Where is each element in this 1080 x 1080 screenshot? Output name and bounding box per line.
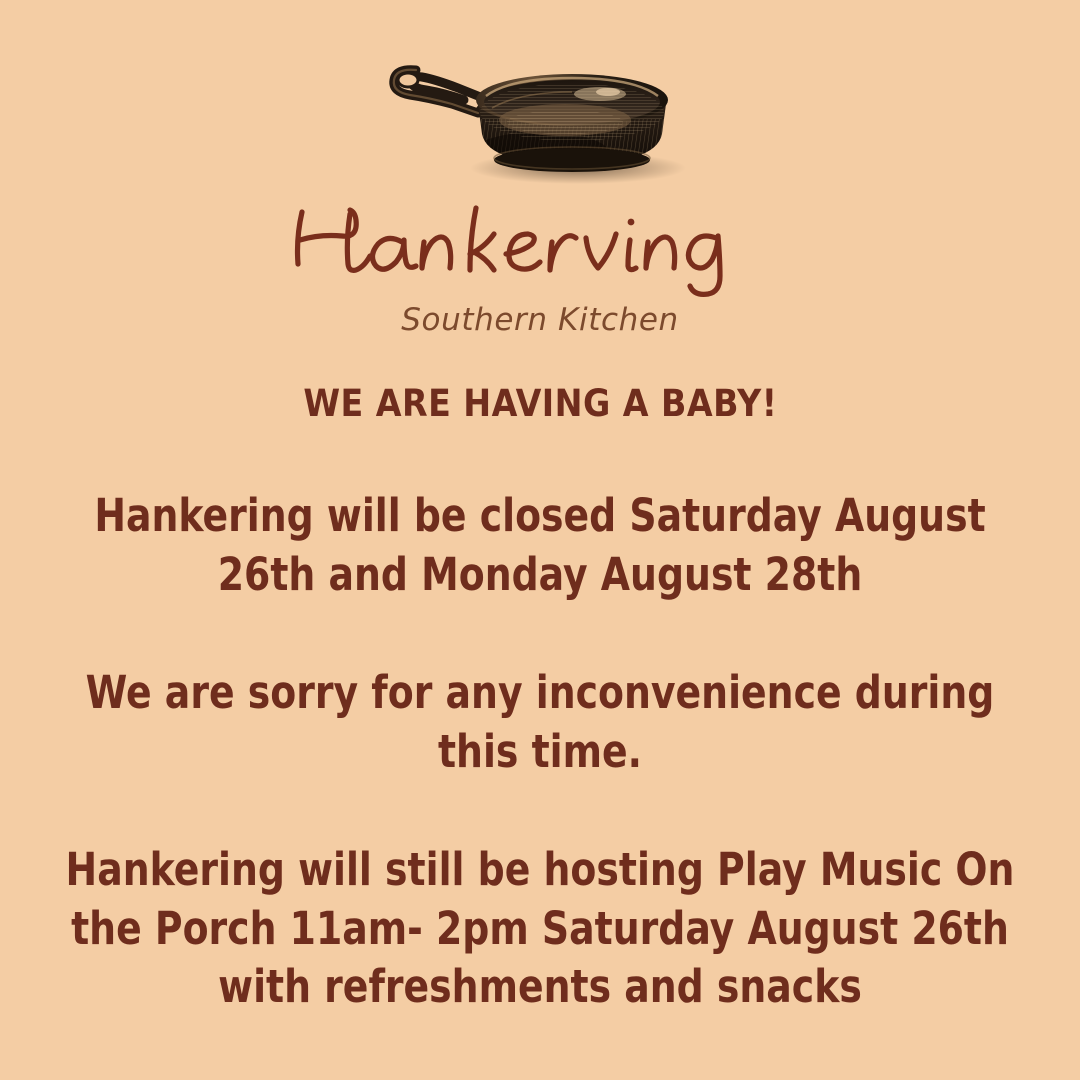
brand-tagline: Southern Kitchen <box>401 302 679 338</box>
cast-iron-skillet-icon <box>360 34 720 194</box>
announcement-poster: Southern Kitchen WE ARE HAVING A BABY! H… <box>0 0 1080 1080</box>
page-title: WE ARE HAVING A BABY! <box>303 382 777 425</box>
closure-notice: Hankering will be closed Saturday August… <box>44 487 1035 604</box>
announcement-body: WE ARE HAVING A BABY! Hankering will be … <box>40 338 1040 1017</box>
wordmark-hankering <box>280 190 800 308</box>
brand-logo: Southern Kitchen <box>0 0 1080 338</box>
event-notice: Hankering will still be hosting Play Mus… <box>44 841 1035 1017</box>
apology-notice: We are sorry for any inconvenience durin… <box>44 664 1035 781</box>
